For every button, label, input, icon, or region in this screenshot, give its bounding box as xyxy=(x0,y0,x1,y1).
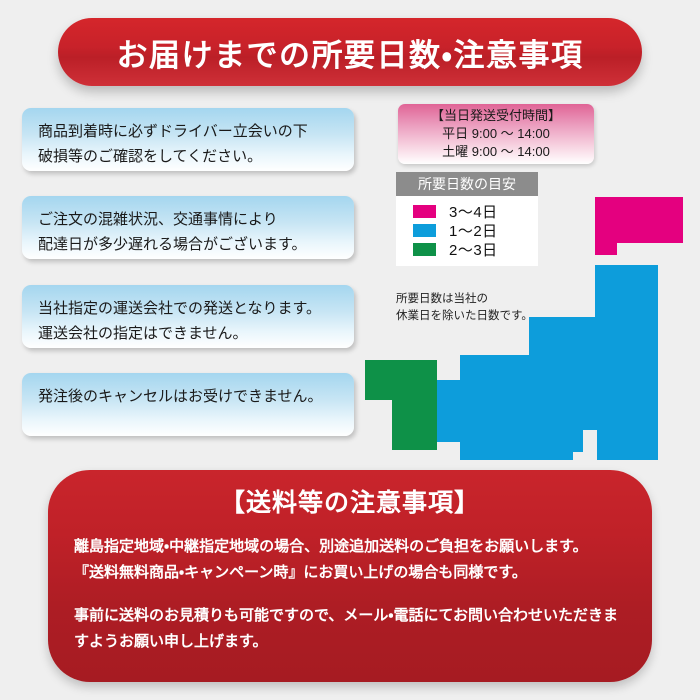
map-region-kanto-upper xyxy=(529,317,595,355)
japan-delivery-map xyxy=(0,90,700,470)
map-region-hokkaido xyxy=(595,197,683,243)
footer-line: 『送料無料商品・キャンペーン時』にお買い上げの場合も同様です。 xyxy=(74,560,626,586)
map-region-chiba-notch xyxy=(573,430,583,452)
footer-paragraph: 事前に送料のお見積りも可能ですので、メール・電話にてお問い合わせいただきますよう… xyxy=(74,603,626,655)
footer-line: 離島指定地域・中継指定地域の場合、別途追加送料のご負担をお願いします。 xyxy=(74,534,626,560)
map-region-tohoku xyxy=(595,265,658,355)
map-region-kyushu-stem xyxy=(392,400,437,450)
header-banner: お届けまでの所要日数・注意事項 xyxy=(58,18,642,86)
footer-paragraph-wrap: 事前に送料のお見積りも可能ですので、メール・電話にてお問い合わせいただきますよう… xyxy=(74,603,626,655)
map-region-kyushu-top xyxy=(365,360,437,400)
map-region-shikoku xyxy=(443,397,485,440)
footer-title: 【送料等の注意事項】 xyxy=(74,483,626,519)
footer-banner: 【送料等の注意事項】 離島指定地域・中継指定地域の場合、別途追加送料のご負担をお… xyxy=(48,470,652,682)
map-region-kanto-east xyxy=(597,430,658,460)
map-region-kanto-main xyxy=(460,355,658,430)
infographic-page: お届けまでの所要日数・注意事項 商品到着時に必ずドライバー立会いの下 破損等のご… xyxy=(0,0,700,700)
map-region-hokkaido-tail xyxy=(595,243,617,255)
page-title: お届けまでの所要日数・注意事項 xyxy=(116,30,583,75)
